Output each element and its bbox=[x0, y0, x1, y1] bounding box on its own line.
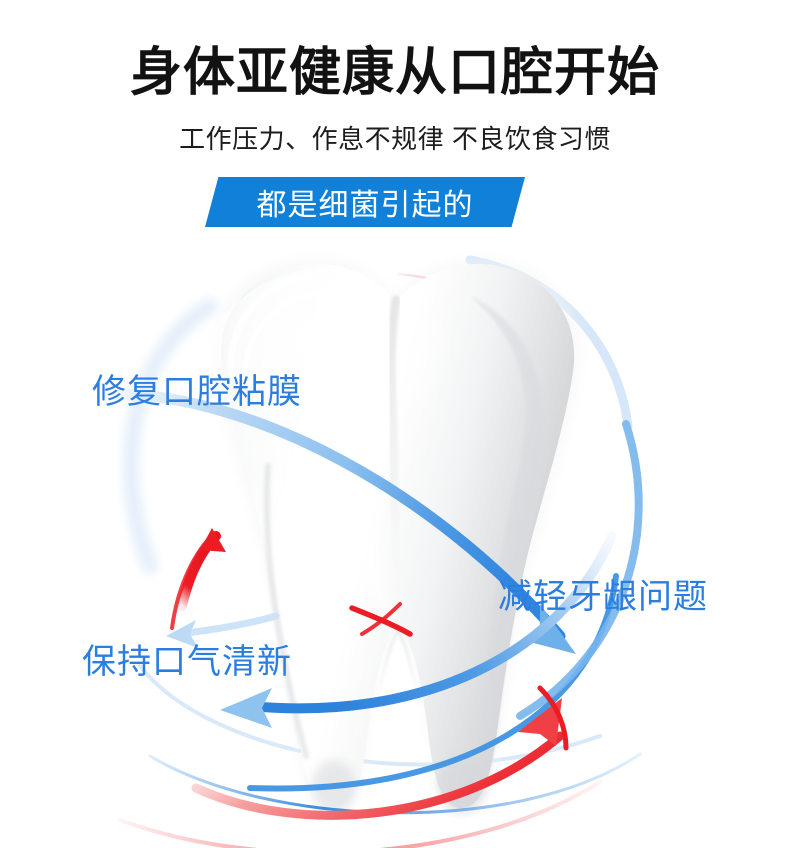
ribbon-red-left-arrowhead bbox=[200, 528, 226, 552]
feature-label-reduce-gum-problems: 减轻牙龈问题 bbox=[498, 577, 708, 617]
page-title: 身体亚健康从口腔开始 bbox=[0, 42, 790, 104]
promo-page: 身体亚健康从口腔开始 工作压力、作息不规律 不良饮食习惯 都是细菌引起的 bbox=[0, 0, 790, 848]
highlight-banner: 都是细菌引起的 bbox=[205, 177, 525, 227]
feature-label-fresh-breath: 保持口气清新 bbox=[82, 642, 292, 682]
feature-label-repair-oral-mucosa: 修复口腔粘膜 bbox=[92, 372, 302, 412]
tooth-illustration bbox=[0, 236, 790, 848]
page-subtitle: 工作压力、作息不规律 不良饮食习惯 bbox=[0, 122, 790, 156]
banner-label: 都是细菌引起的 bbox=[205, 177, 525, 227]
